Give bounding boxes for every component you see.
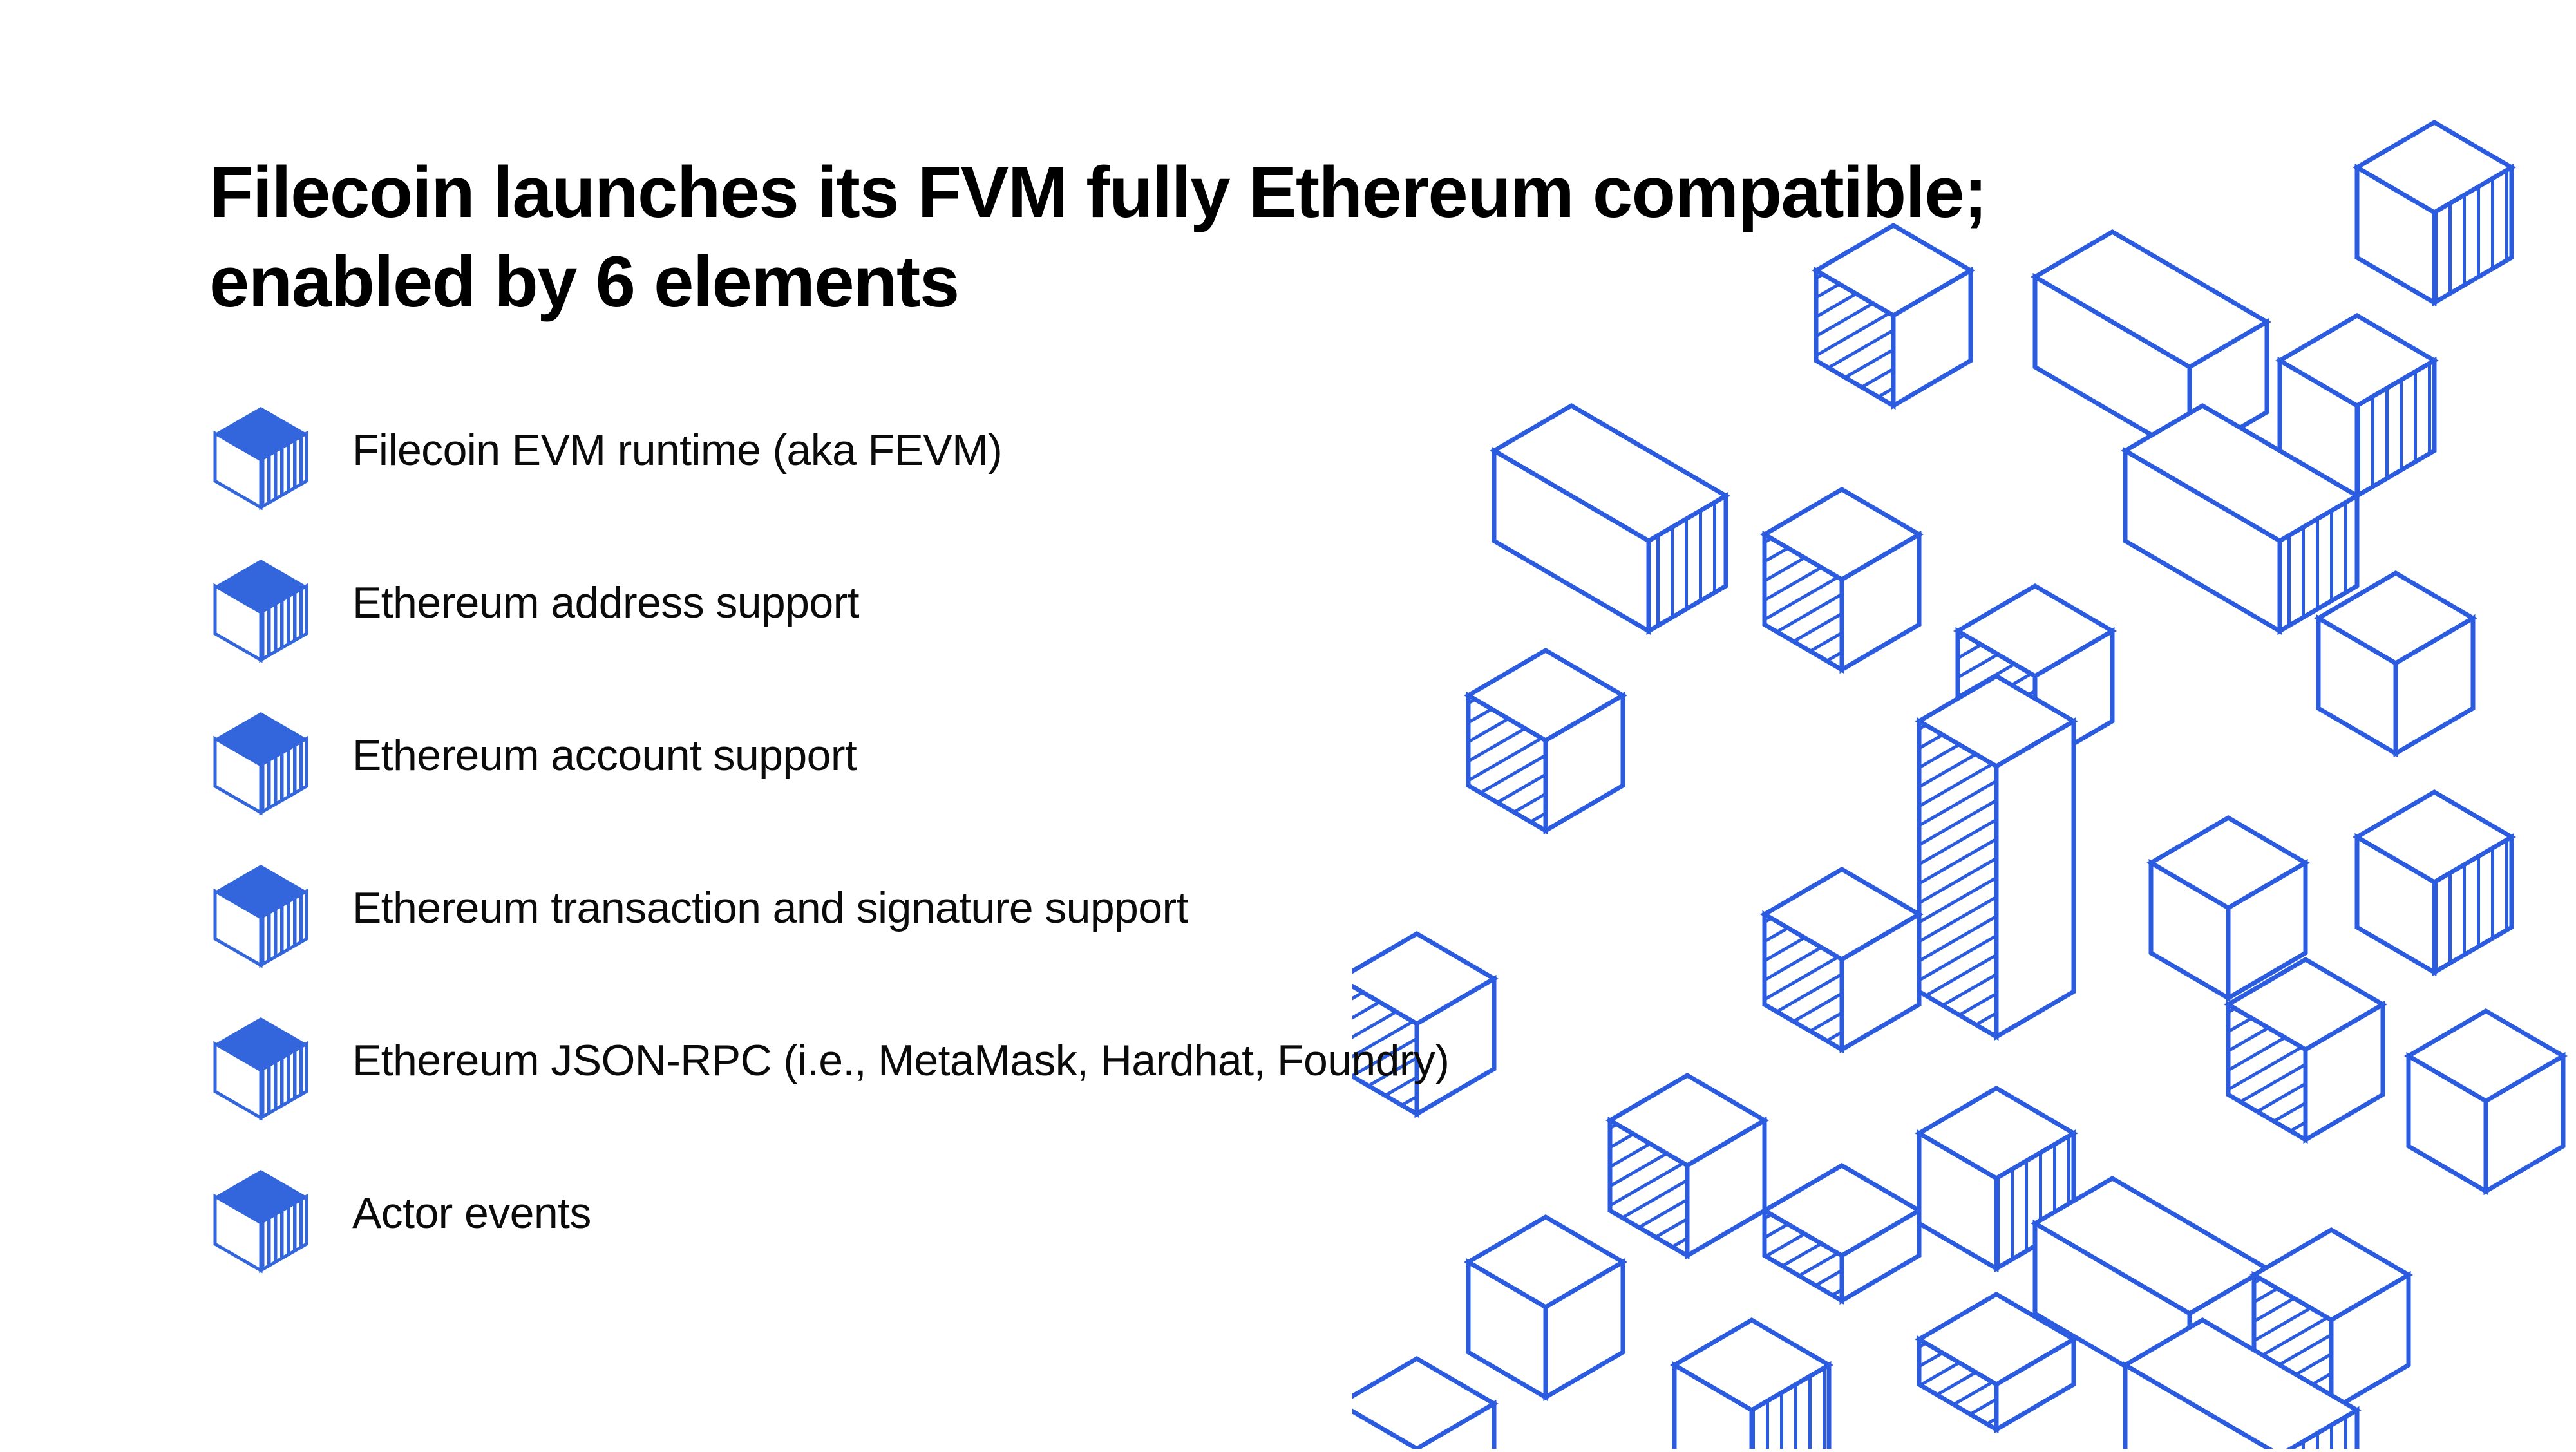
isometric-cube-icon: [209, 861, 312, 969]
list-item: Filecoin EVM runtime (aka FEVM): [209, 399, 1948, 552]
isometric-cube-icon: [209, 1014, 312, 1122]
list-item: Ethereum JSON-RPC (i.e., MetaMask, Hardh…: [209, 1010, 1948, 1162]
list-item-label: Filecoin EVM runtime (aka FEVM): [352, 426, 1002, 475]
list-item-label: Ethereum account support: [352, 731, 857, 780]
list-item: Actor events: [209, 1162, 1948, 1315]
isometric-cube-icon: [209, 1166, 312, 1274]
list-item: Ethereum account support: [209, 704, 1948, 857]
page-title: Filecoin launches its FVM fully Ethereum…: [209, 148, 2206, 327]
isometric-cube-icon: [209, 708, 312, 816]
isometric-cube-icon: [209, 403, 312, 511]
list-item-label: Ethereum JSON-RPC (i.e., MetaMask, Hardh…: [352, 1037, 1449, 1085]
list-item: Ethereum address support: [209, 552, 1948, 704]
list-item-label: Actor events: [352, 1189, 591, 1238]
list-item: Ethereum transaction and signature suppo…: [209, 857, 1948, 1010]
feature-list: Filecoin EVM runtime (aka FEVM) Eth: [209, 399, 1948, 1315]
list-item-label: Ethereum address support: [352, 579, 859, 627]
list-item-label: Ethereum transaction and signature suppo…: [352, 884, 1188, 932]
isometric-cube-icon: [209, 556, 312, 664]
slide-content: Filecoin launches its FVM fully Ethereum…: [0, 0, 1546, 1449]
